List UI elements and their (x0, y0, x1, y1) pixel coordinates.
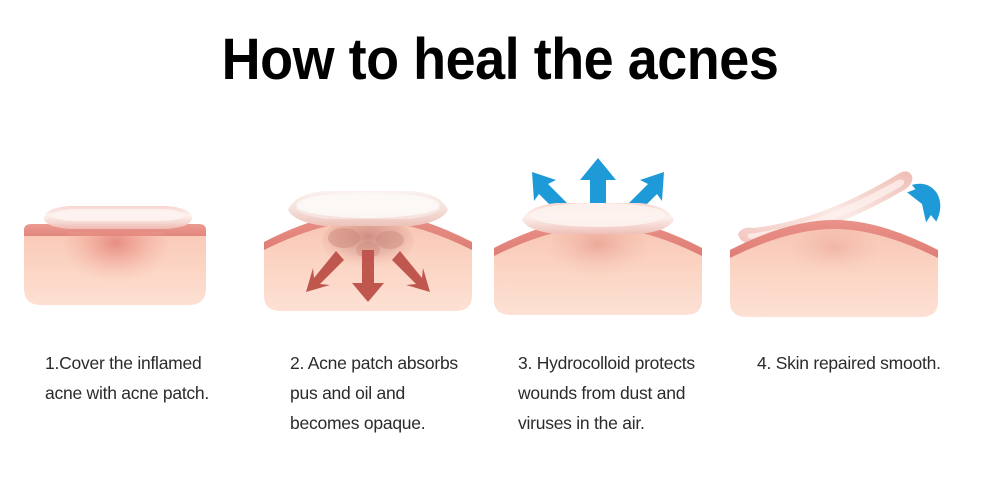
step-1: 1.Cover the inflamed acne with acne patc… (0, 0, 250, 483)
step-3: 3. Hydrocolloid protects wounds from dus… (474, 0, 724, 483)
step-2: 2. Acne patch absorbs pus and oil and be… (244, 0, 494, 483)
caption-step-1: 1.Cover the inflamed acne with acne patc… (45, 348, 260, 408)
acne-patch-step-2 (288, 191, 448, 226)
acne-patch-step-1 (44, 206, 192, 229)
illustration-step-1 (0, 150, 250, 335)
caption-step-4: 4. Skin repaired smooth. (757, 348, 997, 378)
peel-arrow-step-4 (904, 182, 942, 223)
acne-patch-step-3 (522, 203, 674, 234)
faded-mark-step-4 (790, 228, 878, 276)
illustration-step-4 (712, 150, 962, 335)
illustration-step-2 (244, 150, 494, 335)
illustration-step-3 (474, 150, 724, 335)
pus-spot-left (328, 228, 360, 248)
caption-step-2: 2. Acne patch absorbs pus and oil and be… (290, 348, 505, 438)
pus-spot-right (376, 231, 404, 249)
caption-step-3: 3. Hydrocolloid protects wounds from dus… (518, 348, 743, 438)
step-4: 4. Skin repaired smooth. (712, 0, 962, 483)
steps-container: 1.Cover the inflamed acne with acne patc… (0, 0, 1000, 483)
